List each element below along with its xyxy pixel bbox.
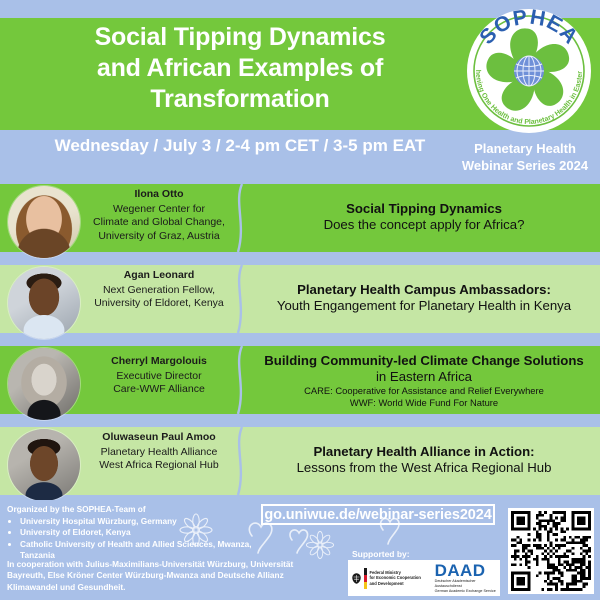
avatar [8, 267, 80, 339]
speaker-name: Ilona Otto [84, 188, 234, 202]
daad-logo: DAAD Deutscher Akademischer Austauschdie… [431, 562, 500, 593]
speaker-info: Ilona Otto Wegener Center for Climate an… [84, 188, 234, 243]
affiliation-line: Executive Director [84, 370, 234, 384]
talk-title: Social Tipping Dynamics [252, 201, 596, 217]
organizer-list: University Hospital Würzburg, Germany Un… [7, 516, 267, 562]
heart-icon [290, 530, 308, 553]
speaker-affiliation: Planetary Health Alliance West Africa Re… [84, 446, 234, 473]
flower-icon [306, 531, 333, 558]
affiliation-line: Care-WWF Alliance [84, 383, 234, 397]
speaker-row: Cherryl Margolouis Executive Director Ca… [0, 346, 600, 414]
qr-code[interactable] [508, 508, 594, 594]
speaker-info: Cherryl Margolouis Executive Director Ca… [84, 355, 234, 397]
webinar-url[interactable]: go.uniwue.de/webinar-series2024 [261, 504, 495, 525]
speaker-name: Agan Leonard [84, 269, 234, 283]
speaker-row: Agan Leonard Next Generation Fellow, Uni… [0, 265, 600, 333]
speaker-affiliation: Executive Director Care-WWF Alliance [84, 370, 234, 397]
affiliation-line: University of Eldoret, Kenya [84, 297, 234, 311]
daad-wordmark: DAAD [435, 562, 500, 579]
talk-subtitle: Youth Engangement for Planetary Health i… [252, 298, 596, 314]
organizers-block: Organized by the SOPHEA-Team of Universi… [7, 504, 267, 562]
sponsor-logos: Federal Ministry for Economic Cooperatio… [348, 560, 500, 596]
list-item: University Hospital Würzburg, Germany [20, 516, 267, 528]
talk: Social Tipping Dynamics Does the concept… [252, 201, 596, 233]
qr-code-svg [511, 511, 591, 591]
supported-by-label: Supported by: [352, 549, 410, 559]
talk-title: Building Community-led Climate Change So… [252, 353, 596, 369]
talk: Planetary Health Alliance in Action: Les… [252, 444, 596, 476]
daad-subtitle-en: German Academic Exchange Service [435, 589, 500, 594]
speaker-info: Oluwaseun Paul Amoo Planetary Health All… [84, 431, 234, 473]
bmz-name-line: for Economic Cooperation [370, 575, 421, 580]
speaker-photo [8, 267, 80, 339]
affiliation-line: West Africa Regional Hub [84, 459, 234, 473]
event-datetime: Wednesday / July 3 / 2-4 pm CET / 3-5 pm… [30, 136, 450, 156]
bmz-logo: Federal Ministry for Economic Cooperatio… [348, 568, 431, 589]
speaker-name: Oluwaseun Paul Amoo [84, 431, 234, 445]
title-line-2: and African Examples of [30, 53, 450, 84]
title-line-3: Transformation [30, 84, 450, 115]
webinar-series-label: Planetary Health Webinar Series 2024 [455, 140, 595, 174]
bmz-name: Federal Ministry for Economic Cooperatio… [370, 570, 421, 586]
talk-subtitle: in Eastern Africa [252, 369, 596, 385]
avatar [8, 348, 80, 420]
speaker-affiliation: Next Generation Fellow, University of El… [84, 284, 234, 311]
speaker-row: Oluwaseun Paul Amoo Planetary Health All… [0, 427, 600, 495]
daad-subtitle-de: Deutscher Akademischer Austauschdienst [435, 579, 500, 589]
speaker-photo [8, 429, 80, 501]
logo-globe-icon [514, 56, 544, 86]
affiliation-line: University of Graz, Austria [84, 230, 234, 244]
title-line-1: Social Tipping Dynamics [30, 22, 450, 53]
talk-subtitle: Lessons from the West Africa Regional Hu… [252, 460, 596, 476]
speaker-photo [8, 348, 80, 420]
cooperation-text: In cooperation with Julius-Maximilians-U… [7, 559, 327, 593]
page-title: Social Tipping Dynamics and African Exam… [30, 22, 450, 115]
sophea-logo: SOPHEA Strengthening One Health and Plan… [466, 8, 592, 134]
speaker-row: Ilona Otto Wegener Center for Climate an… [0, 184, 600, 252]
series-line-2: Webinar Series 2024 [455, 157, 595, 174]
list-item: University of Eldoret, Kenya [20, 527, 267, 539]
affiliation-line: Planetary Health Alliance [84, 446, 234, 460]
talk-subtitle: Does the concept apply for Africa? [252, 217, 596, 233]
organized-by-label: Organized by the SOPHEA-Team of [7, 504, 267, 516]
avatar [8, 186, 80, 258]
talk-note: WWF: World Wide Fund For Nature [252, 397, 596, 409]
talk: Building Community-led Climate Change So… [252, 353, 596, 409]
talk: Planetary Health Campus Ambassadors: You… [252, 282, 596, 314]
speaker-info: Agan Leonard Next Generation Fellow, Uni… [84, 269, 234, 311]
german-flag-bar [364, 568, 367, 589]
sophea-logo-svg: SOPHEA Strengthening One Health and Plan… [466, 8, 592, 134]
talk-title: Planetary Health Alliance in Action: [252, 444, 596, 460]
avatar [8, 429, 80, 501]
affiliation-line: Next Generation Fellow, [84, 284, 234, 298]
german-eagle-icon [351, 572, 362, 585]
series-line-1: Planetary Health [455, 140, 595, 157]
webinar-poster: Social Tipping Dynamics and African Exam… [0, 0, 600, 600]
affiliation-line: Climate and Global Change, [84, 216, 234, 230]
bmz-name-line: and Development [370, 581, 421, 586]
talk-note: CARE: Cooperative for Assistance and Rel… [252, 385, 596, 397]
speaker-name: Cherryl Margolouis [84, 355, 234, 369]
affiliation-line: Wegener Center for [84, 203, 234, 217]
talk-title: Planetary Health Campus Ambassadors: [252, 282, 596, 298]
speaker-photo [8, 186, 80, 258]
speaker-affiliation: Wegener Center for Climate and Global Ch… [84, 203, 234, 244]
